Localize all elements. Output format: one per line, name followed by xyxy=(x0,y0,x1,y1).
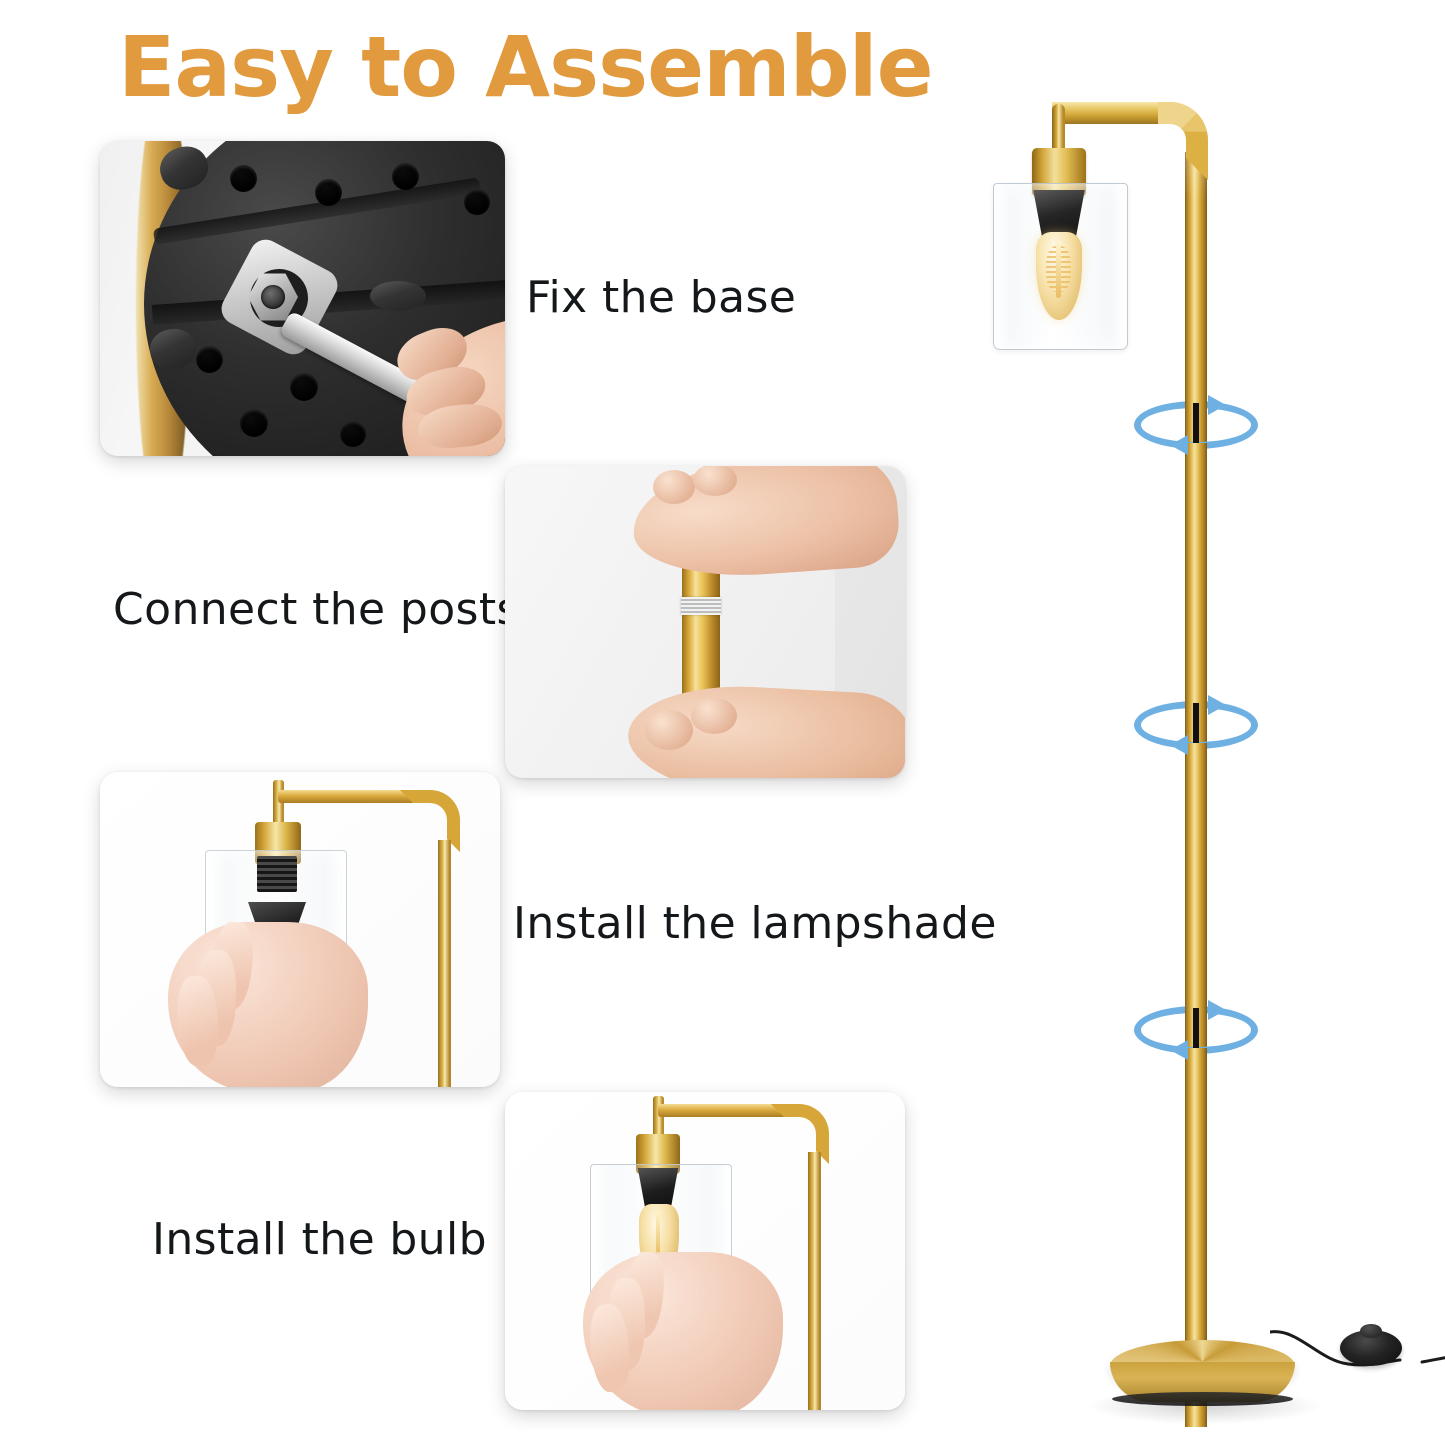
step-1-photo xyxy=(100,141,505,456)
step-3-label: Install the lampshade xyxy=(513,898,997,949)
step-2-label: Connect the posts xyxy=(113,584,520,635)
infographic-canvas: Easy to Assemble xyxy=(0,0,1445,1445)
step-2-photo xyxy=(505,466,905,778)
step-4-photo xyxy=(505,1092,905,1410)
threaded-coupler xyxy=(681,597,721,615)
threaded-socket xyxy=(257,856,297,892)
page-title: Easy to Assemble xyxy=(118,18,933,116)
product-lamp xyxy=(940,40,1445,1445)
foot-switch-button[interactable] xyxy=(1360,1324,1382,1338)
lamp-arm-horizontal xyxy=(1052,102,1158,124)
step-4-label: Install the bulb xyxy=(152,1214,487,1265)
lamp-pole xyxy=(1185,152,1207,1427)
step-3-photo xyxy=(100,772,500,1087)
step-1-label: Fix the base xyxy=(526,272,796,323)
